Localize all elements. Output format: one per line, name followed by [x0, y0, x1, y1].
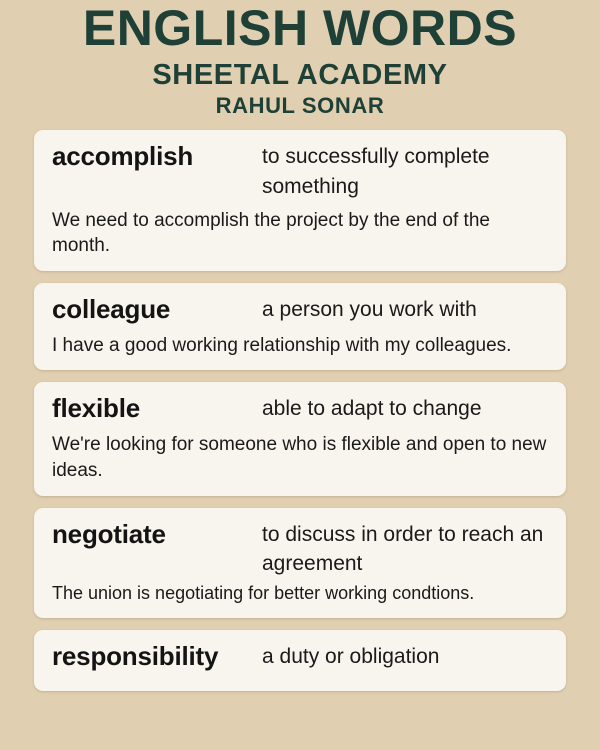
page-header: ENGLISH WORDS SHEETAL ACADEMY RAHUL SONA… — [0, 0, 600, 118]
word-example: We need to accomplish the project by the… — [52, 208, 548, 259]
word-term: responsibility — [52, 640, 262, 674]
author-name: RAHUL SONAR — [0, 93, 600, 118]
word-definition: to discuss in order to reach an agreemen… — [262, 518, 548, 579]
word-example: I have a good working relationship with … — [52, 333, 548, 359]
vocabulary-card: flexible able to adapt to change We're l… — [34, 382, 566, 495]
card-header-row: responsibility a duty or obligation — [52, 640, 548, 674]
word-term: flexible — [52, 392, 262, 426]
word-term: accomplish — [52, 140, 262, 174]
vocabulary-card: negotiate to discuss in order to reach a… — [34, 508, 566, 618]
academy-subtitle: SHEETAL ACADEMY — [0, 59, 600, 92]
card-header-row: flexible able to adapt to change — [52, 392, 548, 426]
word-term: colleague — [52, 293, 262, 327]
card-header-row: accomplish to successfully complete some… — [52, 140, 548, 202]
word-definition: a duty or obligation — [262, 640, 548, 672]
vocabulary-card: responsibility a duty or obligation — [34, 630, 566, 692]
word-term: negotiate — [52, 518, 262, 552]
word-example: We're looking for someone who is flexibl… — [52, 432, 548, 483]
page-title: ENGLISH WORDS — [0, 2, 600, 55]
card-header-row: negotiate to discuss in order to reach a… — [52, 518, 548, 579]
vocabulary-card: colleague a person you work with I have … — [34, 283, 566, 370]
card-header-row: colleague a person you work with — [52, 293, 548, 327]
word-definition: able to adapt to change — [262, 392, 548, 424]
word-example: The union is negotiating for better work… — [52, 581, 548, 605]
word-definition: to successfully complete something — [262, 140, 548, 202]
vocabulary-card-list: accomplish to successfully complete some… — [0, 130, 600, 691]
vocabulary-card: accomplish to successfully complete some… — [34, 130, 566, 271]
word-definition: a person you work with — [262, 293, 548, 325]
